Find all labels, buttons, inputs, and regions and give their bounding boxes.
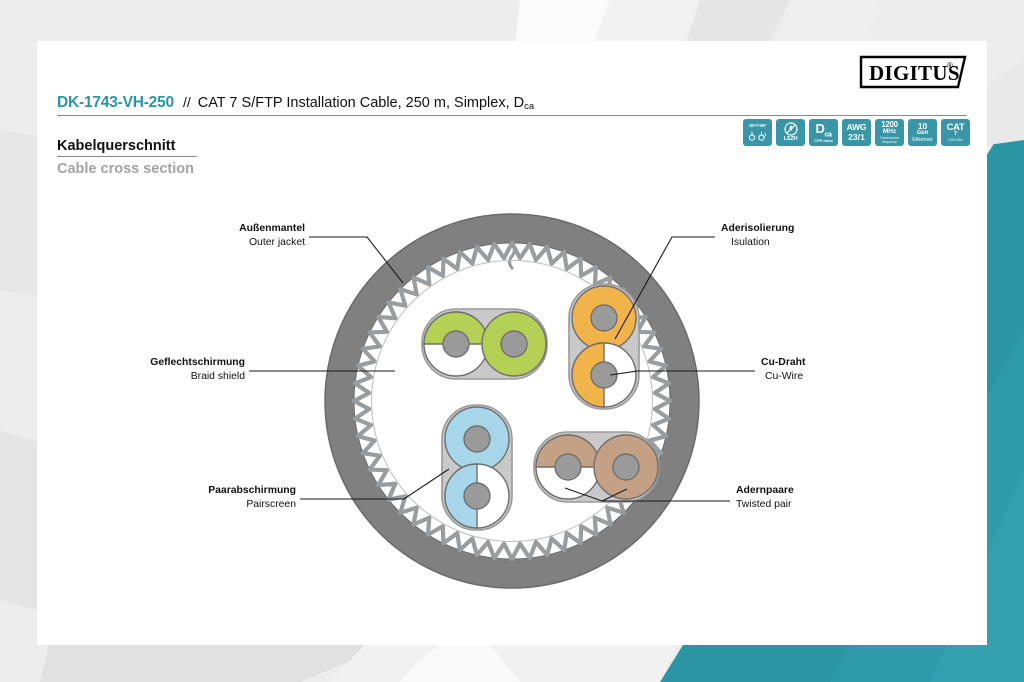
document-sheet: DIGITUS ® DK-1743-VH-250 // CAT 7 S/FTP … [37,41,987,645]
wire-blue-solid [445,407,509,471]
callout-outer-jacket: Außenmantel Outer jacket [239,223,305,248]
callout-outer-jacket-de: Außenmantel [239,223,305,234]
orange-pair [569,284,639,409]
callout-pairscreen-de: Paarabschirmung [208,485,296,496]
callout-cu-wire: Cu-Draht Cu-Wire [761,357,806,382]
blue-pair [442,405,512,530]
callout-pairscreen-en: Pairscreen [246,499,296,510]
callout-braid-shield: Geflechtschirmung Braid shield [150,357,245,382]
brown-pair [534,432,659,502]
callout-braid-shield-en: Braid shield [191,371,246,382]
callout-twisted-pair: Adernpaare Twisted pair [736,485,794,510]
callout-twisted-pair-en: Twisted pair [736,499,792,510]
callout-outer-jacket-en: Outer jacket [249,237,305,248]
callout-twisted-pair-de: Adernpaare [736,485,794,496]
callout-isolation-de: Aderisolierung [721,223,794,234]
callout-pairscreen: Paarabschirmung Pairscreen [208,485,296,510]
wire-green-striped [424,312,488,376]
callout-cu-wire-en: Cu-Wire [765,371,803,382]
cable-cross-section-diagram: Außenmantel Outer jacket Geflechtschirmu… [37,41,987,645]
green-pair [422,309,547,379]
wire-blue-striped [445,464,509,528]
callout-isolation-en: Isulation [731,237,770,248]
callout-isolation: Aderisolierung Isulation [721,223,794,248]
callout-cu-wire-de: Cu-Draht [761,357,806,368]
wire-orange-striped [572,343,636,407]
callout-braid-shield-de: Geflechtschirmung [150,357,245,368]
wire-green-solid [482,312,546,376]
